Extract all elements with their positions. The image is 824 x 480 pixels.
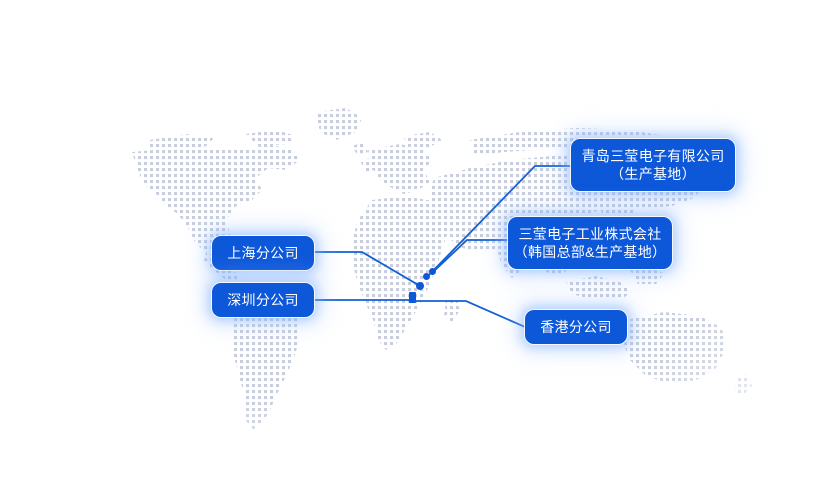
label-korea-line1: 三莹电子工业株式会社: [519, 225, 662, 243]
label-hongkong[interactable]: 香港分公司: [525, 310, 627, 344]
label-korea-hq[interactable]: 三莹电子工业株式会社 （韩国总部&生产基地）: [508, 217, 672, 269]
label-shenzhen-line1: 深圳分公司: [227, 291, 299, 309]
marker-shenzhen-hongkong: [409, 292, 416, 303]
label-shenzhen[interactable]: 深圳分公司: [212, 283, 314, 317]
label-hongkong-line1: 香港分公司: [540, 318, 612, 336]
marker-shanghai: [416, 282, 424, 290]
world-map-locations-graphic: 青岛三莹电子有限公司 （生产基地） 三莹电子工业株式会社 （韩国总部&生产基地）…: [0, 0, 824, 480]
label-qingdao-line2: （生产基地）: [610, 165, 696, 183]
label-shanghai-line1: 上海分公司: [227, 244, 299, 262]
dotted-world-map: [0, 0, 824, 480]
marker-qingdao: [423, 273, 430, 280]
label-korea-line2: （韩国总部&生产基地）: [514, 243, 667, 261]
label-shanghai[interactable]: 上海分公司: [212, 236, 314, 270]
marker-korea: [429, 268, 436, 275]
label-qingdao-line1: 青岛三莹电子有限公司: [582, 147, 725, 165]
label-qingdao[interactable]: 青岛三莹电子有限公司 （生产基地）: [571, 139, 735, 191]
